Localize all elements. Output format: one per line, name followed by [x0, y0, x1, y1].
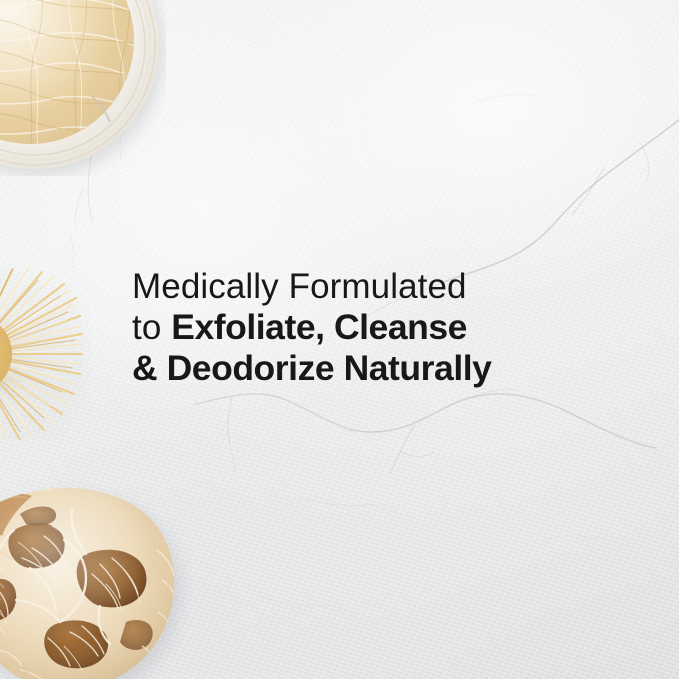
- loofah-slice: [0, 478, 192, 679]
- bristle-brush: [0, 268, 92, 440]
- product-marketing-banner: Medically Formulated to Exfoliate, Clean…: [0, 0, 679, 679]
- headline-line-2: to Exfoliate, Cleanse: [132, 307, 602, 348]
- headline-line-3: & Deodorize Naturally: [132, 348, 602, 389]
- headline: Medically Formulated to Exfoliate, Clean…: [132, 266, 602, 389]
- headline-line-1: Medically Formulated: [132, 266, 602, 307]
- headline-line-2-light: to: [132, 308, 171, 347]
- headline-line-2-bold: Exfoliate, Cleanse: [171, 307, 467, 347]
- loofah-pad: [0, 0, 166, 176]
